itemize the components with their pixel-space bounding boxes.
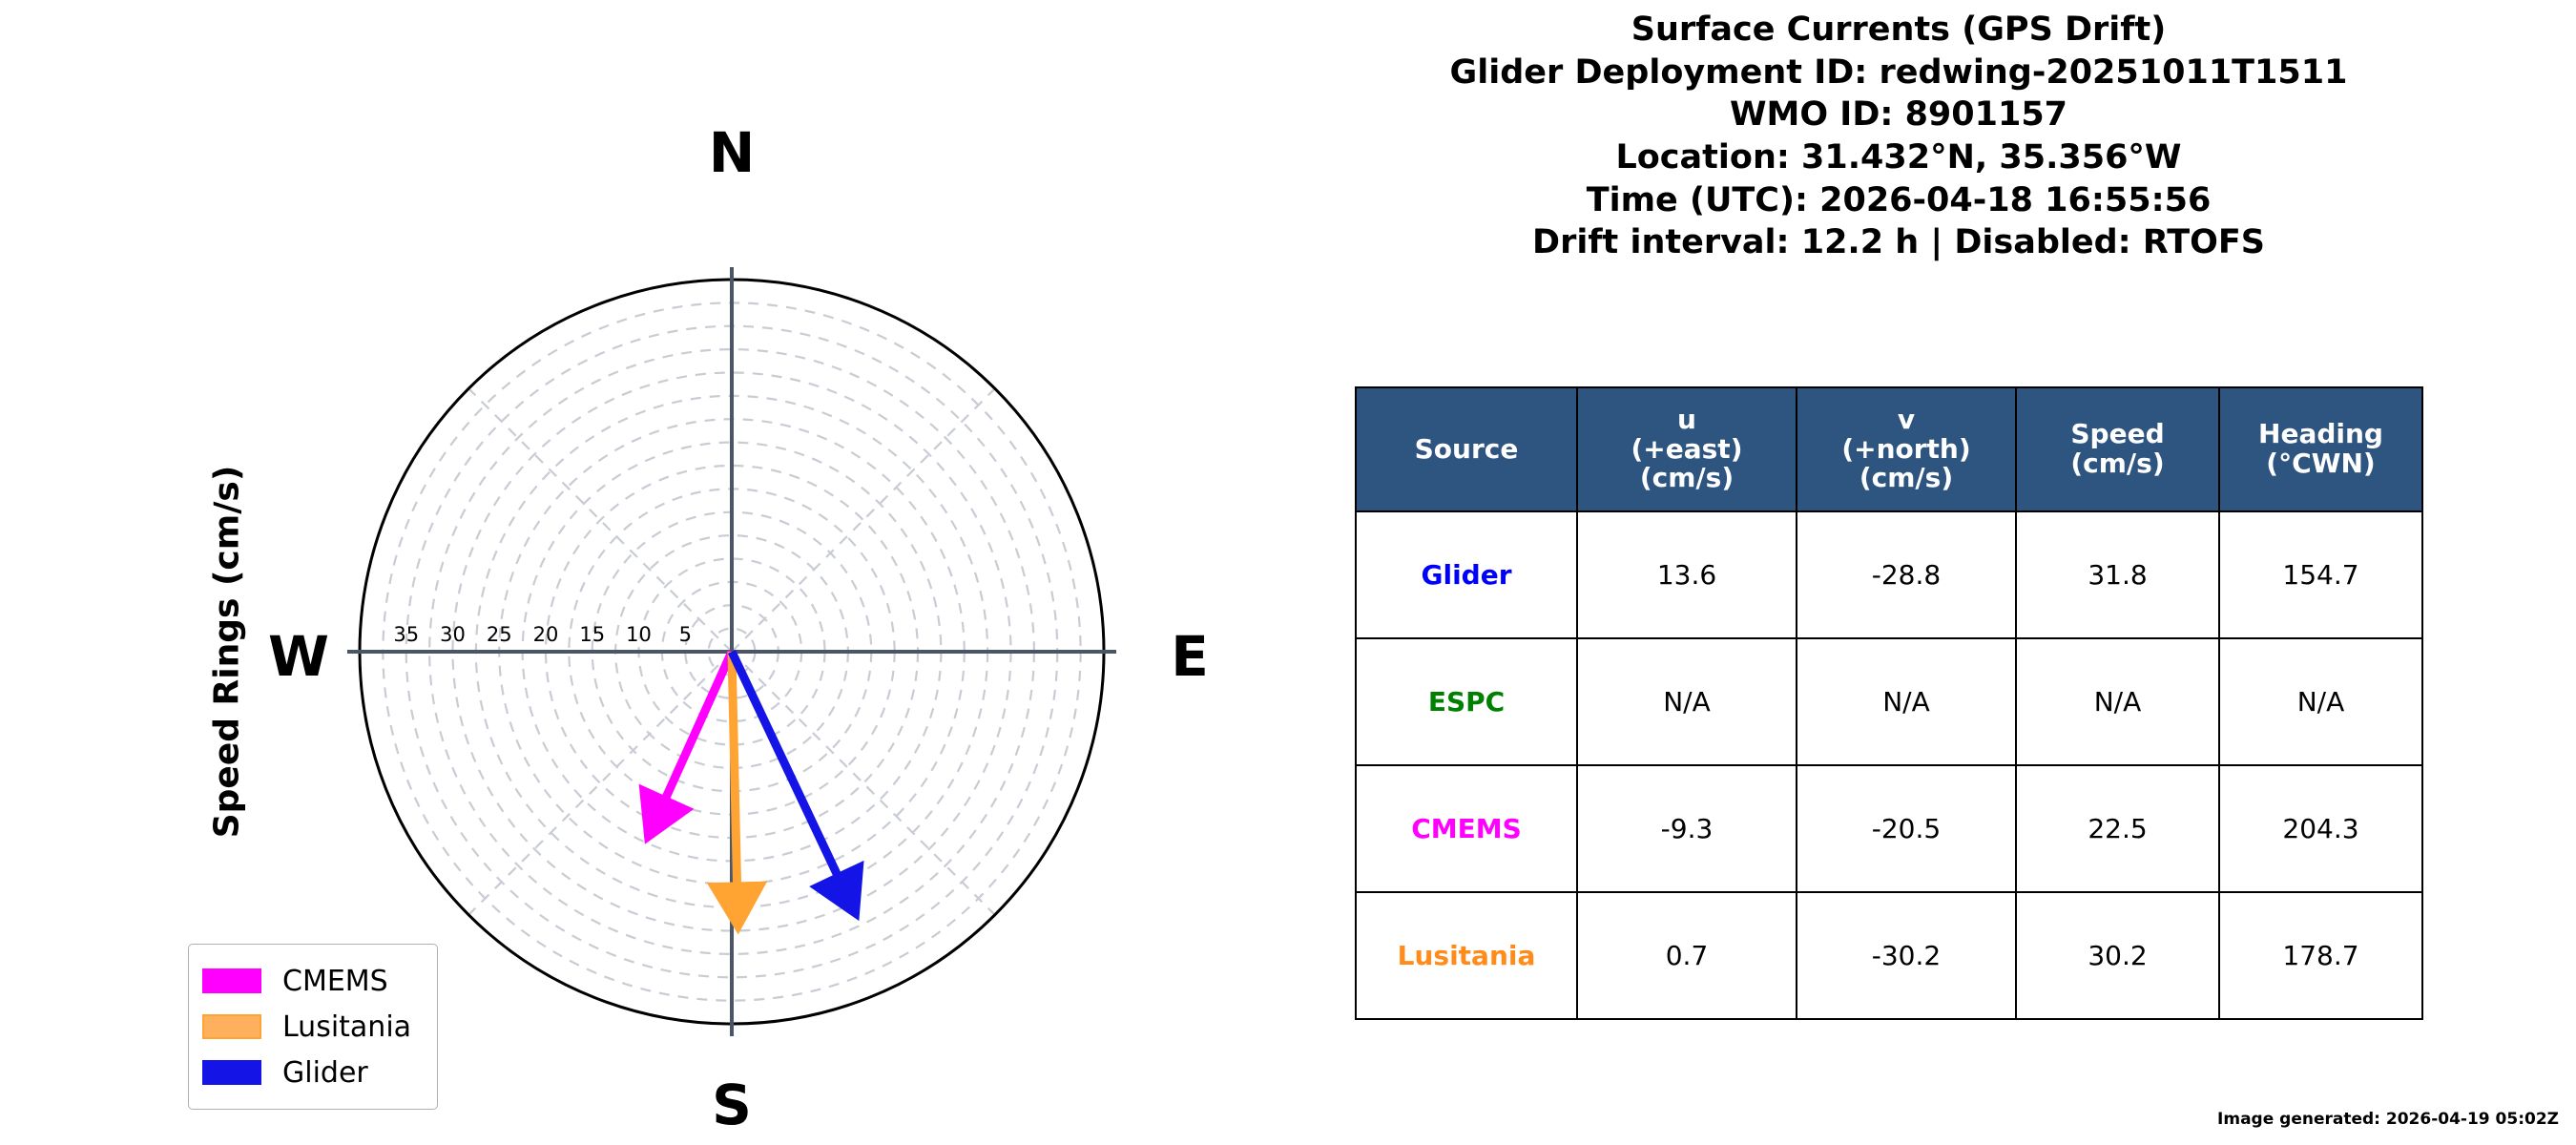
legend-item-glider[interactable]: Glider: [202, 1050, 422, 1095]
compass-label-south: S: [712, 1077, 752, 1133]
col-header-heading: Heading(°CWN): [2219, 387, 2422, 511]
table-head: Source u(+east)(cm/s) v(+north)(cm/s) Sp…: [1356, 387, 2422, 511]
legend-swatch-cmems: [202, 968, 261, 993]
vector-shaft-lusitania: [732, 652, 737, 883]
table-row: ESPCN/AN/AN/AN/A: [1356, 638, 2422, 765]
cell-speed: N/A: [2016, 638, 2219, 765]
header-line-wmo-id: WMO ID: 8901157: [1336, 98, 2462, 133]
cell-speed: 22.5: [2016, 765, 2219, 892]
cell-u: N/A: [1577, 638, 1797, 765]
legend-label-glider: Glider: [282, 1056, 368, 1090]
cell-source: ESPC: [1356, 638, 1577, 765]
ring-tick-label-5: 5: [679, 623, 692, 646]
col-header-speed: Speed(cm/s): [2016, 387, 2219, 511]
table-row: Lusitania0.7-30.230.2178.7: [1356, 892, 2422, 1019]
legend-swatch-lusitania: [202, 1014, 261, 1039]
cell-heading: N/A: [2219, 638, 2422, 765]
cell-source: CMEMS: [1356, 765, 1577, 892]
cell-source: Glider: [1356, 511, 1577, 638]
compass-label-west: W: [268, 629, 329, 684]
table-header-row: Source u(+east)(cm/s) v(+north)(cm/s) Sp…: [1356, 387, 2422, 511]
image-generated-stamp: Image generated: 2026-04-19 05:02Z: [2217, 1110, 2559, 1129]
header-line-drift-interval: Drift interval: 12.2 h | Disabled: RTOFS: [1336, 226, 2462, 260]
cell-v: N/A: [1797, 638, 2016, 765]
ring-tick-label-20: 20: [533, 623, 559, 646]
cell-source: Lusitania: [1356, 892, 1577, 1019]
currents-table-wrapper: Source u(+east)(cm/s) v(+north)(cm/s) Sp…: [1355, 386, 2421, 1020]
cell-speed: 30.2: [2016, 892, 2219, 1019]
current-vector-arrows: [640, 652, 863, 932]
cell-v: -20.5: [1797, 765, 2016, 892]
compass-label-north: N: [709, 125, 756, 180]
header-line-location: Location: 31.432°N, 35.356°W: [1336, 141, 2462, 176]
ring-tick-label-15: 15: [579, 623, 605, 646]
ring-tick-label-25: 25: [487, 623, 512, 646]
polar-plot-panel: N S E W Speed Rings (cm/s) 3530252015105…: [0, 0, 1317, 1145]
cell-heading: 204.3: [2219, 765, 2422, 892]
vector-shaft-cmems: [666, 652, 732, 798]
radial-axis-title: Speed Rings (cm/s): [208, 466, 247, 839]
ring-tick-label-35: 35: [393, 623, 419, 646]
cell-speed: 31.8: [2016, 511, 2219, 638]
cell-heading: 154.7: [2219, 511, 2422, 638]
table-body: Glider13.6-28.831.8154.7ESPCN/AN/AN/AN/A…: [1356, 511, 2422, 1019]
legend-label-cmems: CMEMS: [282, 965, 388, 998]
header-line-deployment-id: Glider Deployment ID: redwing-20251011T1…: [1336, 56, 2462, 91]
cell-v: -30.2: [1797, 892, 2016, 1019]
vector-head-lusitania: [709, 883, 766, 933]
legend-label-lusitania: Lusitania: [282, 1010, 411, 1044]
header-line-time: Time (UTC): 2026-04-18 16:55:56: [1336, 184, 2462, 219]
vector-shaft-glider: [732, 652, 837, 874]
plot-legend: CMEMSLusitaniaGlider: [188, 944, 438, 1110]
compass-label-east: E: [1171, 629, 1209, 684]
legend-item-lusitania[interactable]: Lusitania: [202, 1004, 422, 1050]
ring-tick-label-30: 30: [440, 623, 466, 646]
legend-swatch-glider: [202, 1060, 261, 1085]
table-row: CMEMS-9.3-20.522.5204.3: [1356, 765, 2422, 892]
cell-u: 0.7: [1577, 892, 1797, 1019]
table-row: Glider13.6-28.831.8154.7: [1356, 511, 2422, 638]
col-header-v: v(+north)(cm/s): [1797, 387, 2016, 511]
header-line-title: Surface Currents (GPS Drift): [1336, 13, 2462, 48]
ring-tick-label-10: 10: [626, 623, 652, 646]
col-header-source: Source: [1356, 387, 1577, 511]
col-header-u: u(+east)(cm/s): [1577, 387, 1797, 511]
cell-u: -9.3: [1577, 765, 1797, 892]
legend-item-cmems[interactable]: CMEMS: [202, 958, 422, 1004]
cell-heading: 178.7: [2219, 892, 2422, 1019]
currents-table: Source u(+east)(cm/s) v(+north)(cm/s) Sp…: [1355, 386, 2423, 1020]
cell-v: -28.8: [1797, 511, 2016, 638]
cell-u: 13.6: [1577, 511, 1797, 638]
info-header: Surface Currents (GPS Drift) Glider Depl…: [1336, 13, 2462, 269]
